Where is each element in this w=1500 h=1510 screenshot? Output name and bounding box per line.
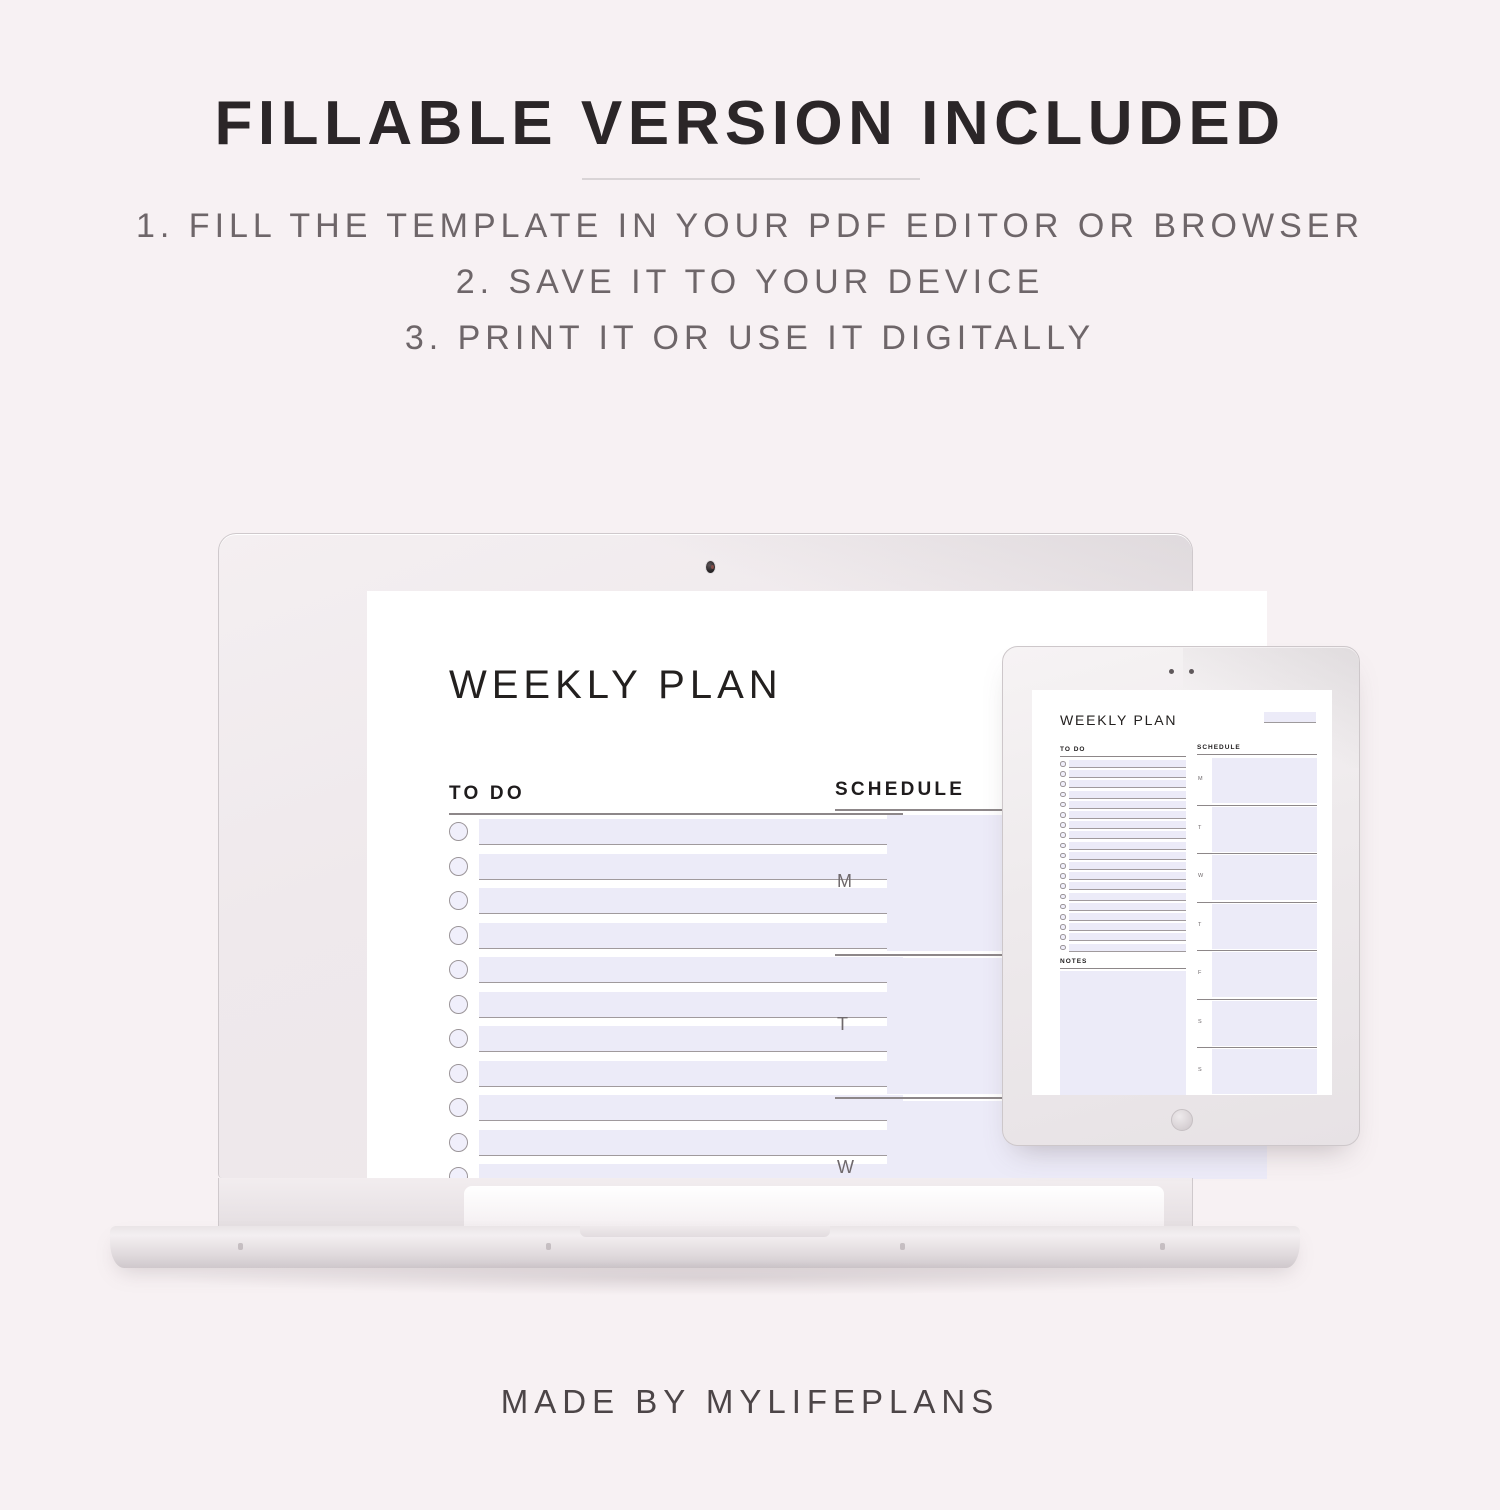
todo-input[interactable] xyxy=(1069,944,1186,952)
tablet-screen: WEEKLY PLAN TO DO SCHEDULE MTWTFSS NOTES xyxy=(1032,690,1332,1095)
schedule-input[interactable] xyxy=(1212,758,1317,803)
tablet-camera-icon xyxy=(1169,669,1174,674)
checkbox-circle-icon[interactable] xyxy=(449,1029,468,1048)
tablet-notes-divider xyxy=(1060,968,1186,969)
checkbox-circle-icon[interactable] xyxy=(449,1098,468,1117)
checkbox-circle-icon[interactable] xyxy=(1060,812,1066,818)
todo-input[interactable] xyxy=(479,819,903,845)
checkbox-circle-icon[interactable] xyxy=(1060,924,1066,930)
checkbox-circle-icon[interactable] xyxy=(1060,873,1066,879)
checkbox-circle-icon[interactable] xyxy=(449,960,468,979)
schedule-input[interactable] xyxy=(1212,904,1317,949)
todo-input[interactable] xyxy=(1069,770,1186,778)
checkbox-circle-icon[interactable] xyxy=(1060,761,1066,767)
schedule-divider xyxy=(1197,999,1317,1000)
todo-input[interactable] xyxy=(1069,903,1186,911)
checkbox-circle-icon[interactable] xyxy=(1060,832,1066,838)
schedule-day-label: W xyxy=(837,1157,855,1178)
todo-input[interactable] xyxy=(479,1061,903,1087)
tablet-mockup: WEEKLY PLAN TO DO SCHEDULE MTWTFSS NOTES xyxy=(1002,646,1360,1146)
checkbox-circle-icon[interactable] xyxy=(449,1064,468,1083)
tablet-body: WEEKLY PLAN TO DO SCHEDULE MTWTFSS NOTES xyxy=(1002,646,1360,1146)
checkbox-circle-icon[interactable] xyxy=(1060,894,1066,900)
instruction-step-2: 2. SAVE IT TO YOUR DEVICE xyxy=(0,254,1500,310)
tablet-todo-divider xyxy=(1060,756,1186,757)
instruction-step-1: 1. FILL THE TEMPLATE IN YOUR PDF EDITOR … xyxy=(0,198,1500,254)
tablet-planner-title: WEEKLY PLAN xyxy=(1060,712,1177,728)
schedule-day-label: M xyxy=(837,871,853,892)
schedule-divider xyxy=(1197,1047,1317,1048)
schedule-input[interactable] xyxy=(1212,855,1317,900)
tablet-schedule-heading: SCHEDULE xyxy=(1197,744,1241,751)
brand-credit: MADE BY MYLIFEPLANS xyxy=(0,1383,1500,1421)
checkbox-circle-icon[interactable] xyxy=(1060,945,1066,951)
todo-input[interactable] xyxy=(1069,760,1186,768)
tablet-weekly-planner: WEEKLY PLAN TO DO SCHEDULE MTWTFSS NOTES xyxy=(1032,690,1332,1095)
tablet-notes-heading: NOTES xyxy=(1060,958,1087,965)
checkbox-circle-icon[interactable] xyxy=(1060,843,1066,849)
schedule-divider xyxy=(1197,902,1317,903)
checkbox-circle-icon[interactable] xyxy=(449,926,468,945)
checkbox-circle-icon[interactable] xyxy=(1060,853,1066,859)
todo-input[interactable] xyxy=(1069,821,1186,829)
schedule-divider xyxy=(1197,805,1317,806)
checkbox-circle-icon[interactable] xyxy=(449,822,468,841)
checkbox-circle-icon[interactable] xyxy=(1060,883,1066,889)
checkbox-circle-icon[interactable] xyxy=(1060,863,1066,869)
todo-input[interactable] xyxy=(1069,933,1186,941)
todo-input[interactable] xyxy=(1069,811,1186,819)
laptop-planner-title: WEEKLY PLAN xyxy=(449,663,783,708)
todo-input[interactable] xyxy=(1069,780,1186,788)
laptop-base-screw-3 xyxy=(900,1243,905,1250)
schedule-day-label: S xyxy=(1198,1067,1202,1073)
schedule-divider xyxy=(1197,853,1317,854)
schedule-input[interactable] xyxy=(1212,1001,1317,1046)
schedule-day-label: S xyxy=(1198,1019,1202,1025)
checkbox-circle-icon[interactable] xyxy=(1060,802,1066,808)
checkbox-circle-icon[interactable] xyxy=(1060,792,1066,798)
schedule-input[interactable] xyxy=(1212,807,1317,852)
tablet-schedule-divider xyxy=(1197,754,1317,755)
todo-input[interactable] xyxy=(1069,801,1186,809)
tablet-notes-field[interactable] xyxy=(1060,971,1186,1095)
schedule-day-label: M xyxy=(1198,776,1203,782)
todo-input[interactable] xyxy=(1069,852,1186,860)
todo-input[interactable] xyxy=(479,957,903,983)
tablet-sensor-icon xyxy=(1189,669,1194,674)
tablet-home-button[interactable] xyxy=(1171,1109,1193,1131)
checkbox-circle-icon[interactable] xyxy=(1060,904,1066,910)
schedule-day-label: F xyxy=(1198,970,1202,976)
checkbox-circle-icon[interactable] xyxy=(1060,822,1066,828)
todo-input[interactable] xyxy=(1069,831,1186,839)
title-divider xyxy=(582,178,920,180)
instruction-step-3: 3. PRINT IT OR USE IT DIGITALLY xyxy=(0,310,1500,366)
laptop-todo-heading: TO DO xyxy=(449,783,525,805)
checkbox-circle-icon[interactable] xyxy=(449,995,468,1014)
page-title: FILLABLE VERSION INCLUDED xyxy=(0,88,1500,159)
checkbox-circle-icon[interactable] xyxy=(449,1133,468,1152)
checkbox-circle-icon[interactable] xyxy=(1060,781,1066,787)
laptop-base-screw-1 xyxy=(238,1243,243,1250)
todo-input[interactable] xyxy=(1069,872,1186,880)
todo-input[interactable] xyxy=(479,923,903,949)
todo-input[interactable] xyxy=(1069,893,1186,901)
schedule-input[interactable] xyxy=(1212,1049,1317,1094)
todo-input[interactable] xyxy=(1069,882,1186,890)
schedule-day-label: T xyxy=(837,1014,849,1035)
laptop-base-screw-2 xyxy=(546,1243,551,1250)
schedule-divider xyxy=(1197,950,1317,951)
checkbox-circle-icon[interactable] xyxy=(449,891,468,910)
checkbox-circle-icon[interactable] xyxy=(449,857,468,876)
todo-input[interactable] xyxy=(1069,923,1186,931)
promo-graphic: FILLABLE VERSION INCLUDED 1. FILL THE TE… xyxy=(0,0,1500,1510)
todo-input[interactable] xyxy=(1069,842,1186,850)
laptop-schedule-heading: SCHEDULE xyxy=(835,779,965,801)
tablet-todo-heading: TO DO xyxy=(1060,746,1085,753)
checkbox-circle-icon[interactable] xyxy=(1060,771,1066,777)
todo-input[interactable] xyxy=(1069,913,1186,921)
schedule-day-label: W xyxy=(1198,873,1203,879)
todo-input[interactable] xyxy=(479,1130,903,1156)
schedule-day-label: T xyxy=(1198,922,1202,928)
laptop-base-lip xyxy=(580,1226,830,1237)
checkbox-circle-icon[interactable] xyxy=(1060,914,1066,920)
laptop-todo-divider xyxy=(449,813,903,815)
instruction-steps: 1. FILL THE TEMPLATE IN YOUR PDF EDITOR … xyxy=(0,198,1500,366)
todo-input[interactable] xyxy=(1069,791,1186,799)
webcam-icon xyxy=(706,561,715,573)
tablet-date-field[interactable] xyxy=(1264,712,1316,723)
laptop-shadow xyxy=(170,1261,1240,1295)
schedule-day-label: T xyxy=(1198,825,1202,831)
checkbox-circle-icon[interactable] xyxy=(1060,934,1066,940)
schedule-input[interactable] xyxy=(1212,952,1317,997)
laptop-base-screw-4 xyxy=(1160,1243,1165,1250)
todo-input[interactable] xyxy=(1069,862,1186,870)
